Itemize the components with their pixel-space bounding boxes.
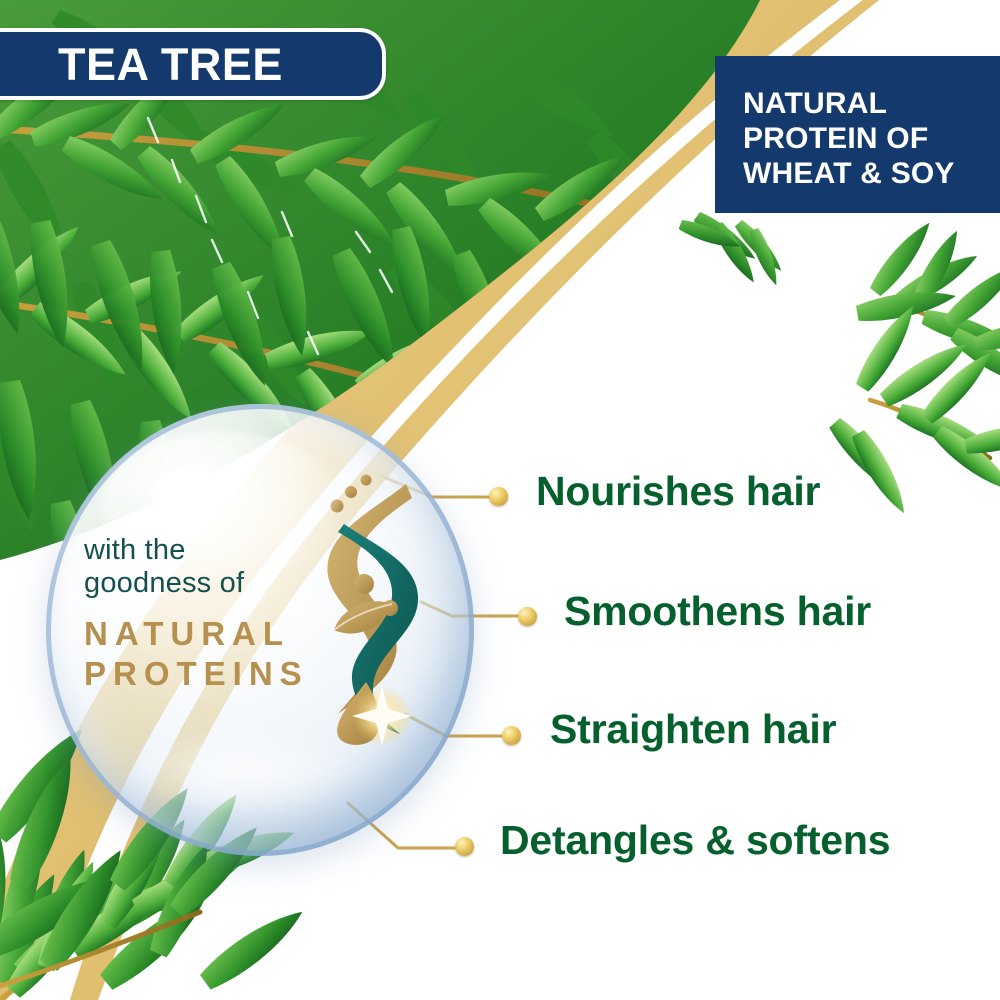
bullet-dot-icon (455, 837, 474, 856)
protein-banner-line-3: WHEAT & SOY (743, 157, 955, 192)
benefit-label-nourishes-hair: Nourishes hair (536, 468, 820, 515)
tea-tree-banner: TEA TREE (0, 28, 386, 100)
bullet-dot-icon (518, 607, 537, 626)
bullet-dot-icon (489, 487, 508, 506)
protein-banner-line-1: NATURAL (743, 87, 887, 122)
benefit-label-detangles-softens: Detangles & softens (500, 817, 890, 864)
bullet-dot-icon (502, 726, 521, 745)
protein-banner-line-2: PROTEIN OF (743, 122, 928, 157)
benefit-label-smoothens-hair: Smoothens hair (564, 588, 871, 635)
natural-protein-banner: NATURAL PROTEIN OF WHEAT & SOY (715, 56, 1000, 213)
product-feature-graphic: with the goodness of NATURAL PROTEINS No… (0, 0, 1000, 1000)
benefit-label-straighten-hair: Straighten hair (550, 706, 836, 753)
